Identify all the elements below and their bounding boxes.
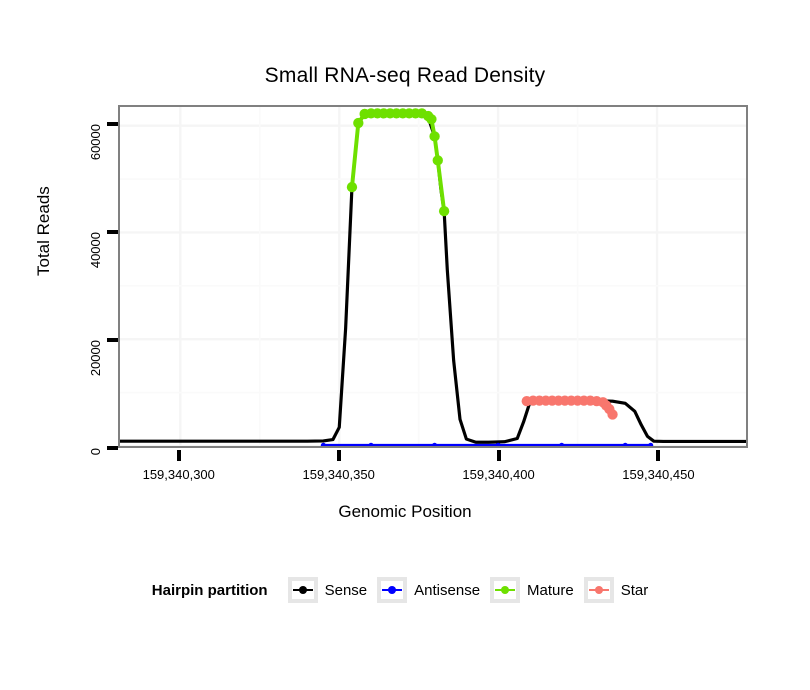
legend-title: Hairpin partition bbox=[152, 582, 268, 599]
x-tick-mark bbox=[177, 450, 181, 461]
y-tick-mark bbox=[107, 338, 118, 342]
legend-point-icon bbox=[299, 586, 307, 594]
legend-item-antisense[interactable]: Antisense bbox=[377, 577, 480, 603]
legend-item-mature[interactable]: Mature bbox=[490, 577, 574, 603]
y-tick-label: 60000 bbox=[88, 124, 103, 221]
legend-key-icon bbox=[377, 577, 407, 603]
legend-point-icon bbox=[595, 586, 603, 594]
x-tick-label: 159,340,450 bbox=[588, 467, 728, 482]
y-tick-mark bbox=[107, 122, 118, 126]
y-tick-label: 40000 bbox=[88, 232, 103, 329]
y-tick-label: 0 bbox=[88, 448, 103, 545]
legend-item-sense[interactable]: Sense bbox=[288, 577, 368, 603]
x-tick-mark bbox=[337, 450, 341, 461]
y-tick-mark bbox=[107, 230, 118, 234]
legend-key-icon bbox=[490, 577, 520, 603]
legend-label: Star bbox=[621, 582, 649, 599]
legend-label: Sense bbox=[325, 582, 368, 599]
x-tick-mark bbox=[656, 450, 660, 461]
legend-key-icon bbox=[288, 577, 318, 603]
legend-label: Mature bbox=[527, 582, 574, 599]
chart-title: Small RNA-seq Read Density bbox=[0, 64, 810, 88]
legend-items: SenseAntisenseMatureStar bbox=[288, 577, 659, 603]
y-axis-title: Total Reads bbox=[34, 186, 54, 276]
y-tick-mark bbox=[107, 446, 118, 450]
legend-item-star[interactable]: Star bbox=[584, 577, 649, 603]
plot-panel bbox=[118, 105, 748, 448]
chart-figure: Small RNA-seq Read Density Total Reads G… bbox=[0, 0, 810, 690]
legend-label: Antisense bbox=[414, 582, 480, 599]
x-tick-mark bbox=[497, 450, 501, 461]
data-series-layer bbox=[120, 107, 746, 446]
legend-point-icon bbox=[388, 586, 396, 594]
legend-point-icon bbox=[501, 586, 509, 594]
legend: Hairpin partition SenseAntisenseMatureSt… bbox=[0, 577, 810, 603]
x-tick-label: 159,340,400 bbox=[429, 467, 569, 482]
legend-key-icon bbox=[584, 577, 614, 603]
x-tick-label: 159,340,300 bbox=[109, 467, 249, 482]
x-axis-title: Genomic Position bbox=[0, 502, 810, 522]
y-tick-label: 20000 bbox=[88, 340, 103, 437]
x-tick-label: 159,340,350 bbox=[269, 467, 409, 482]
